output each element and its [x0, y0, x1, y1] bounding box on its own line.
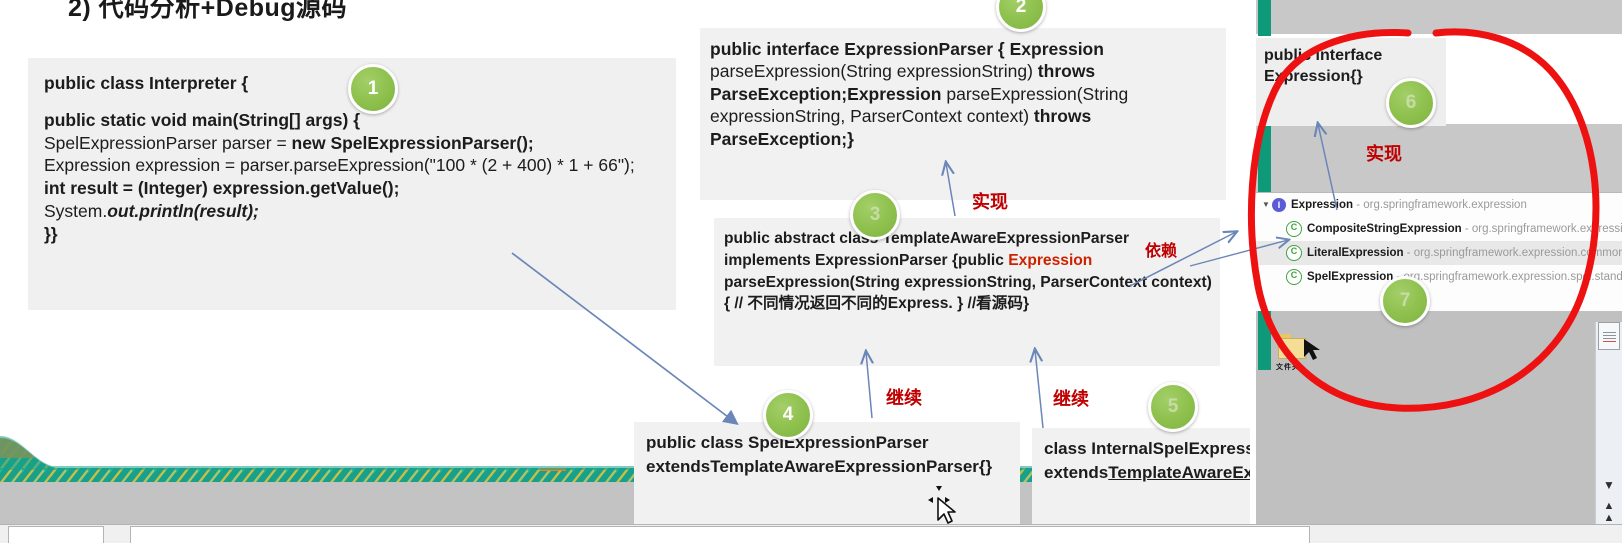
- step-badge-5: 5: [1148, 382, 1198, 432]
- step-badge-7: 7: [1380, 276, 1430, 326]
- interpreter-line-4: Expression expression = parser.parseExpr…: [44, 154, 660, 177]
- interpreter-line-0: public class Interpreter {: [44, 73, 248, 93]
- step-badge-6: 6: [1386, 78, 1436, 128]
- bottom-main-panel[interactable]: [130, 526, 1310, 543]
- previous-slide-button[interactable]: ▲ ▲: [1598, 498, 1620, 526]
- annotation-shixian-2: 实现: [1366, 140, 1402, 166]
- step-badge-1: 1: [348, 64, 398, 114]
- scrollbar-thumb[interactable]: [1598, 322, 1620, 350]
- spel-parser-line-1: TemplateAwareExpressionParser{: [710, 457, 985, 476]
- chevron-up-icon-2: ▲: [1598, 512, 1620, 524]
- step-badge-4: 4: [763, 390, 813, 440]
- interpreter-line-2: public static void main(String[] args) {: [44, 110, 360, 130]
- slide-canvas: 2) 代码分析+Debug源码: [0, 0, 1622, 543]
- template-aware-line-2: }: [1023, 295, 1029, 312]
- window-bottom-bar: [0, 524, 1622, 543]
- mouse-cursor-resize-icon: [928, 486, 962, 526]
- parser-interface-line-3: }: [847, 129, 854, 149]
- bottom-left-panel[interactable]: [8, 526, 104, 543]
- annotation-shixian-1: 实现: [972, 188, 1008, 214]
- interpreter-line-6: System.out.println(result);: [44, 200, 660, 223]
- red-highlight-circle: [1230, 0, 1622, 420]
- page-title: 2) 代码分析+Debug源码: [68, 0, 347, 24]
- parser-interface-line-0: public interface ExpressionParser {: [710, 39, 1005, 59]
- scroll-down-button[interactable]: ▼: [1598, 472, 1620, 498]
- annotation-yilai: 依赖: [1145, 237, 1177, 261]
- step-badge-3: 3: [850, 190, 900, 240]
- interpreter-line-3: SpelExpressionParser parser = new SpelEx…: [44, 132, 660, 155]
- interpreter-line-5: int result = (Integer) expression.getVal…: [44, 178, 399, 198]
- interpreter-line-7: }}: [44, 224, 58, 244]
- chevron-up-icon: ▲: [1598, 500, 1620, 512]
- annotation-jixu-1: 继续: [886, 384, 922, 410]
- ppt-vertical-scrollbar[interactable]: ▼ ▲ ▲ ▼ ▼: [1595, 322, 1622, 543]
- annotation-jixu-2: 继续: [1053, 385, 1089, 411]
- expression-parser-interface-box: public interface ExpressionParser { Expr…: [700, 28, 1226, 200]
- spel-parser-line-2: }: [986, 457, 993, 476]
